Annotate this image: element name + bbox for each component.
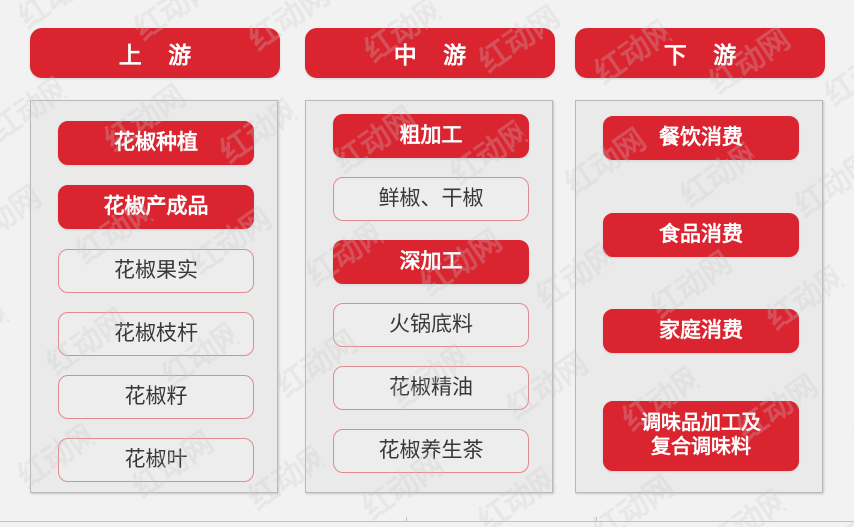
node-downstream-1[interactable]: 餐饮消费 bbox=[603, 116, 799, 160]
column-panel-upstream: 花椒种植 花椒产成品 花椒果实 花椒枝杆 花椒籽 花椒叶 bbox=[30, 100, 278, 493]
industry-chain-diagram: 上 游 花椒种植 花椒产成品 花椒果实 花椒枝杆 花椒籽 花椒叶 中 游 粗加工… bbox=[0, 0, 854, 527]
node-upstream-1[interactable]: 花椒种植 bbox=[58, 121, 254, 165]
node-upstream-4[interactable]: 花椒枝杆 bbox=[58, 312, 254, 356]
column-header-midstream: 中 游 bbox=[305, 28, 555, 78]
node-midstream-5[interactable]: 花椒精油 bbox=[333, 366, 529, 410]
column-header-downstream: 下 游 bbox=[575, 28, 825, 78]
column-panel-downstream: 餐饮消费 食品消费 家庭消费 调味品加工及复合调味料 bbox=[575, 100, 823, 493]
column-header-upstream: 上 游 bbox=[30, 28, 280, 78]
node-downstream-2[interactable]: 食品消费 bbox=[603, 213, 799, 257]
node-midstream-1[interactable]: 粗加工 bbox=[333, 114, 529, 158]
bottom-divider bbox=[0, 521, 854, 522]
node-midstream-4[interactable]: 火锅底料 bbox=[333, 303, 529, 347]
column-upstream: 上 游 花椒种植 花椒产成品 花椒果实 花椒枝杆 花椒籽 花椒叶 bbox=[30, 0, 280, 500]
node-downstream-3[interactable]: 家庭消费 bbox=[603, 309, 799, 353]
node-midstream-2[interactable]: 鲜椒、干椒 bbox=[333, 177, 529, 221]
node-upstream-2[interactable]: 花椒产成品 bbox=[58, 185, 254, 229]
node-midstream-3[interactable]: 深加工 bbox=[333, 240, 529, 284]
node-downstream-4[interactable]: 调味品加工及复合调味料 bbox=[603, 401, 799, 471]
column-midstream: 中 游 粗加工 鲜椒、干椒 深加工 火锅底料 花椒精油 花椒养生茶 bbox=[305, 0, 555, 500]
column-downstream: 下 游 餐饮消费 食品消费 家庭消费 调味品加工及复合调味料 bbox=[575, 0, 825, 500]
column-panel-midstream: 粗加工 鲜椒、干椒 深加工 火锅底料 花椒精油 花椒养生茶 bbox=[305, 100, 553, 493]
node-midstream-6[interactable]: 花椒养生茶 bbox=[333, 429, 529, 473]
node-upstream-3[interactable]: 花椒果实 bbox=[58, 249, 254, 293]
node-upstream-5[interactable]: 花椒籽 bbox=[58, 375, 254, 419]
node-upstream-6[interactable]: 花椒叶 bbox=[58, 438, 254, 482]
